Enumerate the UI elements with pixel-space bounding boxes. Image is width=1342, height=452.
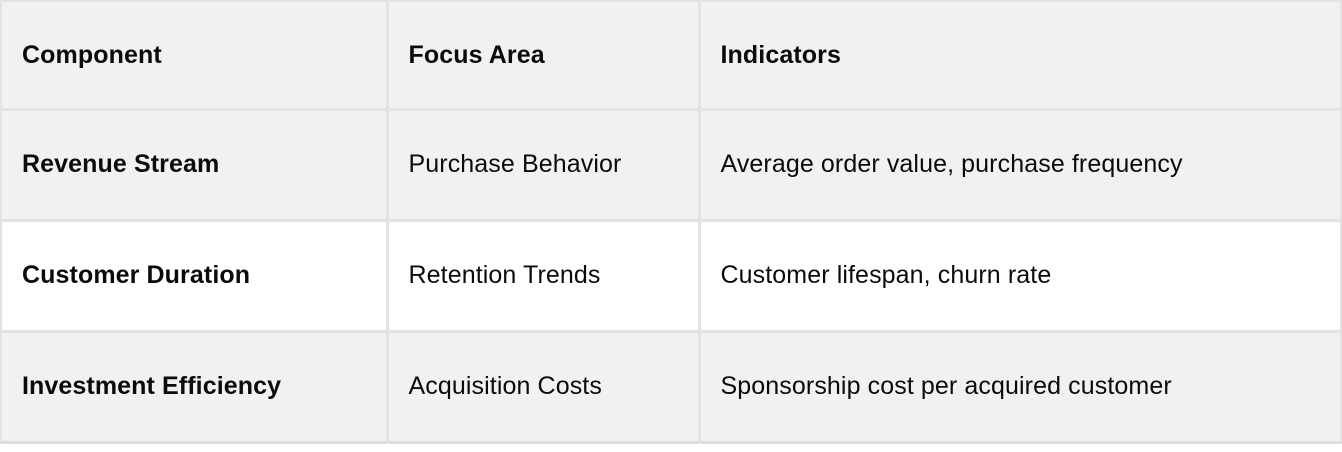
table-header: Component Focus Area Indicators bbox=[1, 1, 1341, 109]
table-header-row: Component Focus Area Indicators bbox=[1, 1, 1341, 109]
table-body: Revenue Stream Purchase Behavior Average… bbox=[1, 109, 1341, 442]
column-header-component: Component bbox=[1, 1, 387, 109]
cell-focus-area: Acquisition Costs bbox=[387, 331, 699, 442]
cell-indicators: Average order value, purchase frequency bbox=[699, 109, 1341, 220]
table-row: Customer Duration Retention Trends Custo… bbox=[1, 220, 1341, 331]
cell-indicators: Sponsorship cost per acquired customer bbox=[699, 331, 1341, 442]
column-header-focus-area: Focus Area bbox=[387, 1, 699, 109]
cell-focus-area: Purchase Behavior bbox=[387, 109, 699, 220]
column-header-indicators: Indicators bbox=[699, 1, 1341, 109]
cell-focus-area: Retention Trends bbox=[387, 220, 699, 331]
cell-component: Investment Efficiency bbox=[1, 331, 387, 442]
table-row: Investment Efficiency Acquisition Costs … bbox=[1, 331, 1341, 442]
cell-indicators: Customer lifespan, churn rate bbox=[699, 220, 1341, 331]
metrics-table: Component Focus Area Indicators Revenue … bbox=[0, 0, 1342, 444]
cell-component: Customer Duration bbox=[1, 220, 387, 331]
table-row: Revenue Stream Purchase Behavior Average… bbox=[1, 109, 1341, 220]
cell-component: Revenue Stream bbox=[1, 109, 387, 220]
table-container: Component Focus Area Indicators Revenue … bbox=[0, 0, 1342, 452]
